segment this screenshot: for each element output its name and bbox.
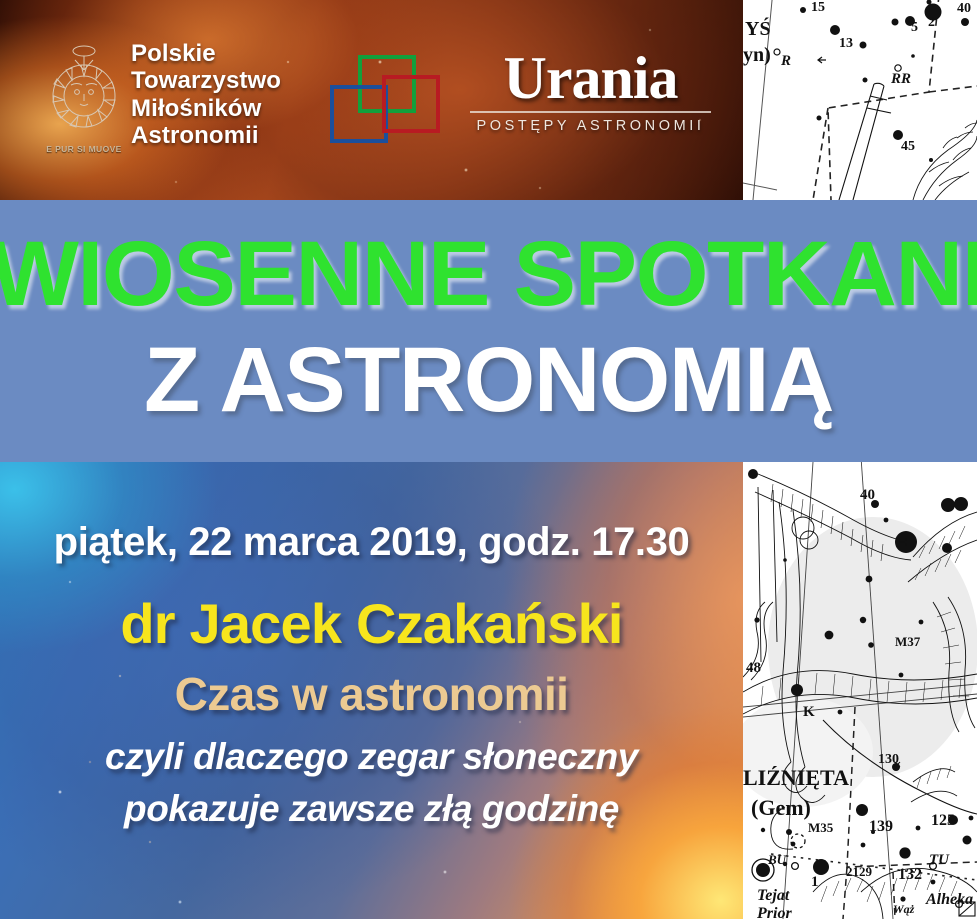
chart-top-label: 15	[811, 0, 825, 16]
chart-bottom-label: LIŹNIĘTA	[743, 765, 849, 791]
sun-face-emblem-icon	[45, 38, 123, 156]
chart-top-label: RR	[891, 71, 911, 88]
chart-bottom-label: BU	[768, 852, 786, 868]
square-red-icon	[382, 75, 440, 133]
chart-bottom-label: 48	[746, 660, 761, 677]
chart-bottom-label: Prior	[757, 905, 792, 919]
ptma-name-line-2: Towarzystwo	[131, 67, 281, 94]
chart-bottom-label: Wąż	[893, 902, 914, 917]
chart-bottom-label: M35	[808, 820, 833, 836]
chart-top-label: YŚ	[745, 18, 771, 41]
square-blue-icon	[330, 85, 388, 143]
chart-bottom-label: 132	[898, 866, 922, 884]
three-overlapping-squares-icon	[330, 55, 450, 155]
chart-bottom-label: K	[803, 704, 815, 721]
chart-top-label: 13	[839, 36, 853, 52]
chart-bottom-label: 139	[869, 818, 893, 836]
star-chart-top: YŚ yn) 15 R 13 5 2 40 RR 45	[743, 0, 977, 200]
lecture-title: Czas w astronomii	[0, 667, 743, 721]
urania-divider	[470, 111, 711, 113]
chart-bottom-label: Alheka	[926, 891, 973, 909]
chart-top-label: R	[781, 53, 791, 70]
chart-bottom-label: (Gem)	[751, 795, 811, 821]
chart-bottom-label: M37	[895, 634, 920, 650]
ptma-name-line-1: Polskie	[131, 40, 281, 67]
event-date: piątek, 22 marca 2019, godz. 17.30	[0, 520, 743, 565]
banner-title-line-1: WIOSENNE SPOTKANIA	[0, 228, 977, 320]
chart-bottom-label: 130	[878, 752, 899, 768]
urania-subtitle: POSTĘPY ASTRONOMII	[468, 118, 713, 134]
chart-top-label: 40	[957, 1, 971, 17]
lecture-subtitle-line-1: czyli dlaczego zegar słoneczny	[0, 736, 743, 778]
ptma-name: Polskie Towarzystwo Miłośników Astronomi…	[131, 40, 281, 149]
star-chart-bottom: 40 M37 48 K 130 LIŹNIĘTA (Gem) M35 139 1…	[743, 462, 977, 919]
ptma-name-line-4: Astronomii	[131, 122, 281, 149]
star-chart-top-graphic	[743, 0, 977, 200]
poster: E PUR SI MUOVE Polskie Towarzystwo Miłoś…	[0, 0, 977, 919]
urania-logo: Urania POSTĘPY ASTRONOMII	[468, 50, 713, 134]
ptma-emblem: E PUR SI MUOVE	[45, 38, 123, 156]
poster-body: piątek, 22 marca 2019, godz. 17.30 dr Ja…	[0, 462, 743, 919]
chart-bottom-label: 2129	[846, 864, 872, 880]
star-chart-bottom-graphic	[743, 462, 977, 919]
title-banner: WIOSENNE SPOTKANIA Z ASTRONOMIĄ	[0, 200, 977, 462]
chart-bottom-label: 40	[860, 487, 875, 504]
ptma-motto: E PUR SI MUOVE	[45, 144, 123, 154]
event-speaker: dr Jacek Czakański	[0, 591, 743, 656]
chart-bottom-label: 125	[931, 812, 955, 830]
chart-bottom-label: TU	[929, 852, 949, 869]
banner-title-line-2: Z ASTRONOMIĄ	[0, 334, 977, 426]
chart-bottom-label: Tejat	[757, 887, 789, 905]
ptma-name-line-3: Miłośników	[131, 95, 281, 122]
chart-top-label: yn)	[743, 44, 771, 67]
chart-top-label: 2	[928, 15, 935, 31]
chart-top-label: 45	[901, 139, 915, 155]
urania-wordmark: Urania	[468, 50, 713, 107]
chart-bottom-label: 1	[811, 874, 819, 891]
chart-top-label: 5	[911, 20, 918, 36]
lecture-subtitle-line-2: pokazuje zawsze złą godzinę	[0, 788, 743, 830]
